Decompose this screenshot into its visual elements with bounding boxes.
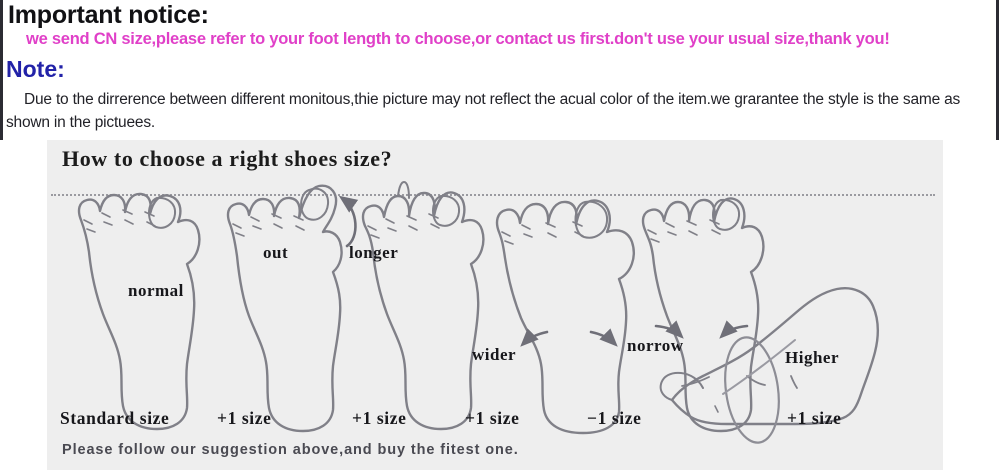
product-size-guide-image: Important notice: we send CN size,please…	[0, 0, 1000, 470]
foot-label-norrow: norrow	[627, 336, 684, 356]
note-paragraph: Due to the dirrerence between different …	[6, 88, 994, 134]
important-notice-heading: Important notice:	[8, 1, 209, 30]
foot-label-wider: wider	[472, 345, 516, 365]
size-label-wider: +1 size	[465, 408, 520, 429]
right-border-rule	[996, 0, 999, 140]
foot-longer-outline	[363, 182, 483, 429]
note-paragraph-line-1: Due to the dirrerence between different …	[6, 91, 899, 108]
size-label-higher: +1 size	[787, 408, 842, 429]
foot-norrow-outline	[643, 198, 763, 431]
foot-normal-outline	[79, 194, 199, 429]
important-notice-text: we send CN size,please refer to your foo…	[26, 30, 890, 49]
foot-label-normal: normal	[128, 281, 184, 301]
foot-label-out: out	[263, 243, 288, 263]
size-label-norrow: −1 size	[587, 408, 642, 429]
diagram-footer-note: Please follow our suggestion above,and b…	[62, 442, 519, 458]
note-heading: Note:	[6, 56, 65, 83]
size-label-out: +1 size	[217, 408, 272, 429]
foot-out-outline	[228, 186, 355, 431]
foot-label-higher: Higher	[785, 348, 839, 368]
shoe-size-diagram-panel: How to choose a right shoes size?	[47, 140, 943, 470]
foot-wider-outline	[497, 200, 634, 433]
size-label-standard: Standard size	[60, 408, 169, 429]
left-border-rule	[0, 0, 3, 140]
size-label-longer: +1 size	[352, 408, 407, 429]
foot-label-longer: longer	[349, 243, 398, 263]
